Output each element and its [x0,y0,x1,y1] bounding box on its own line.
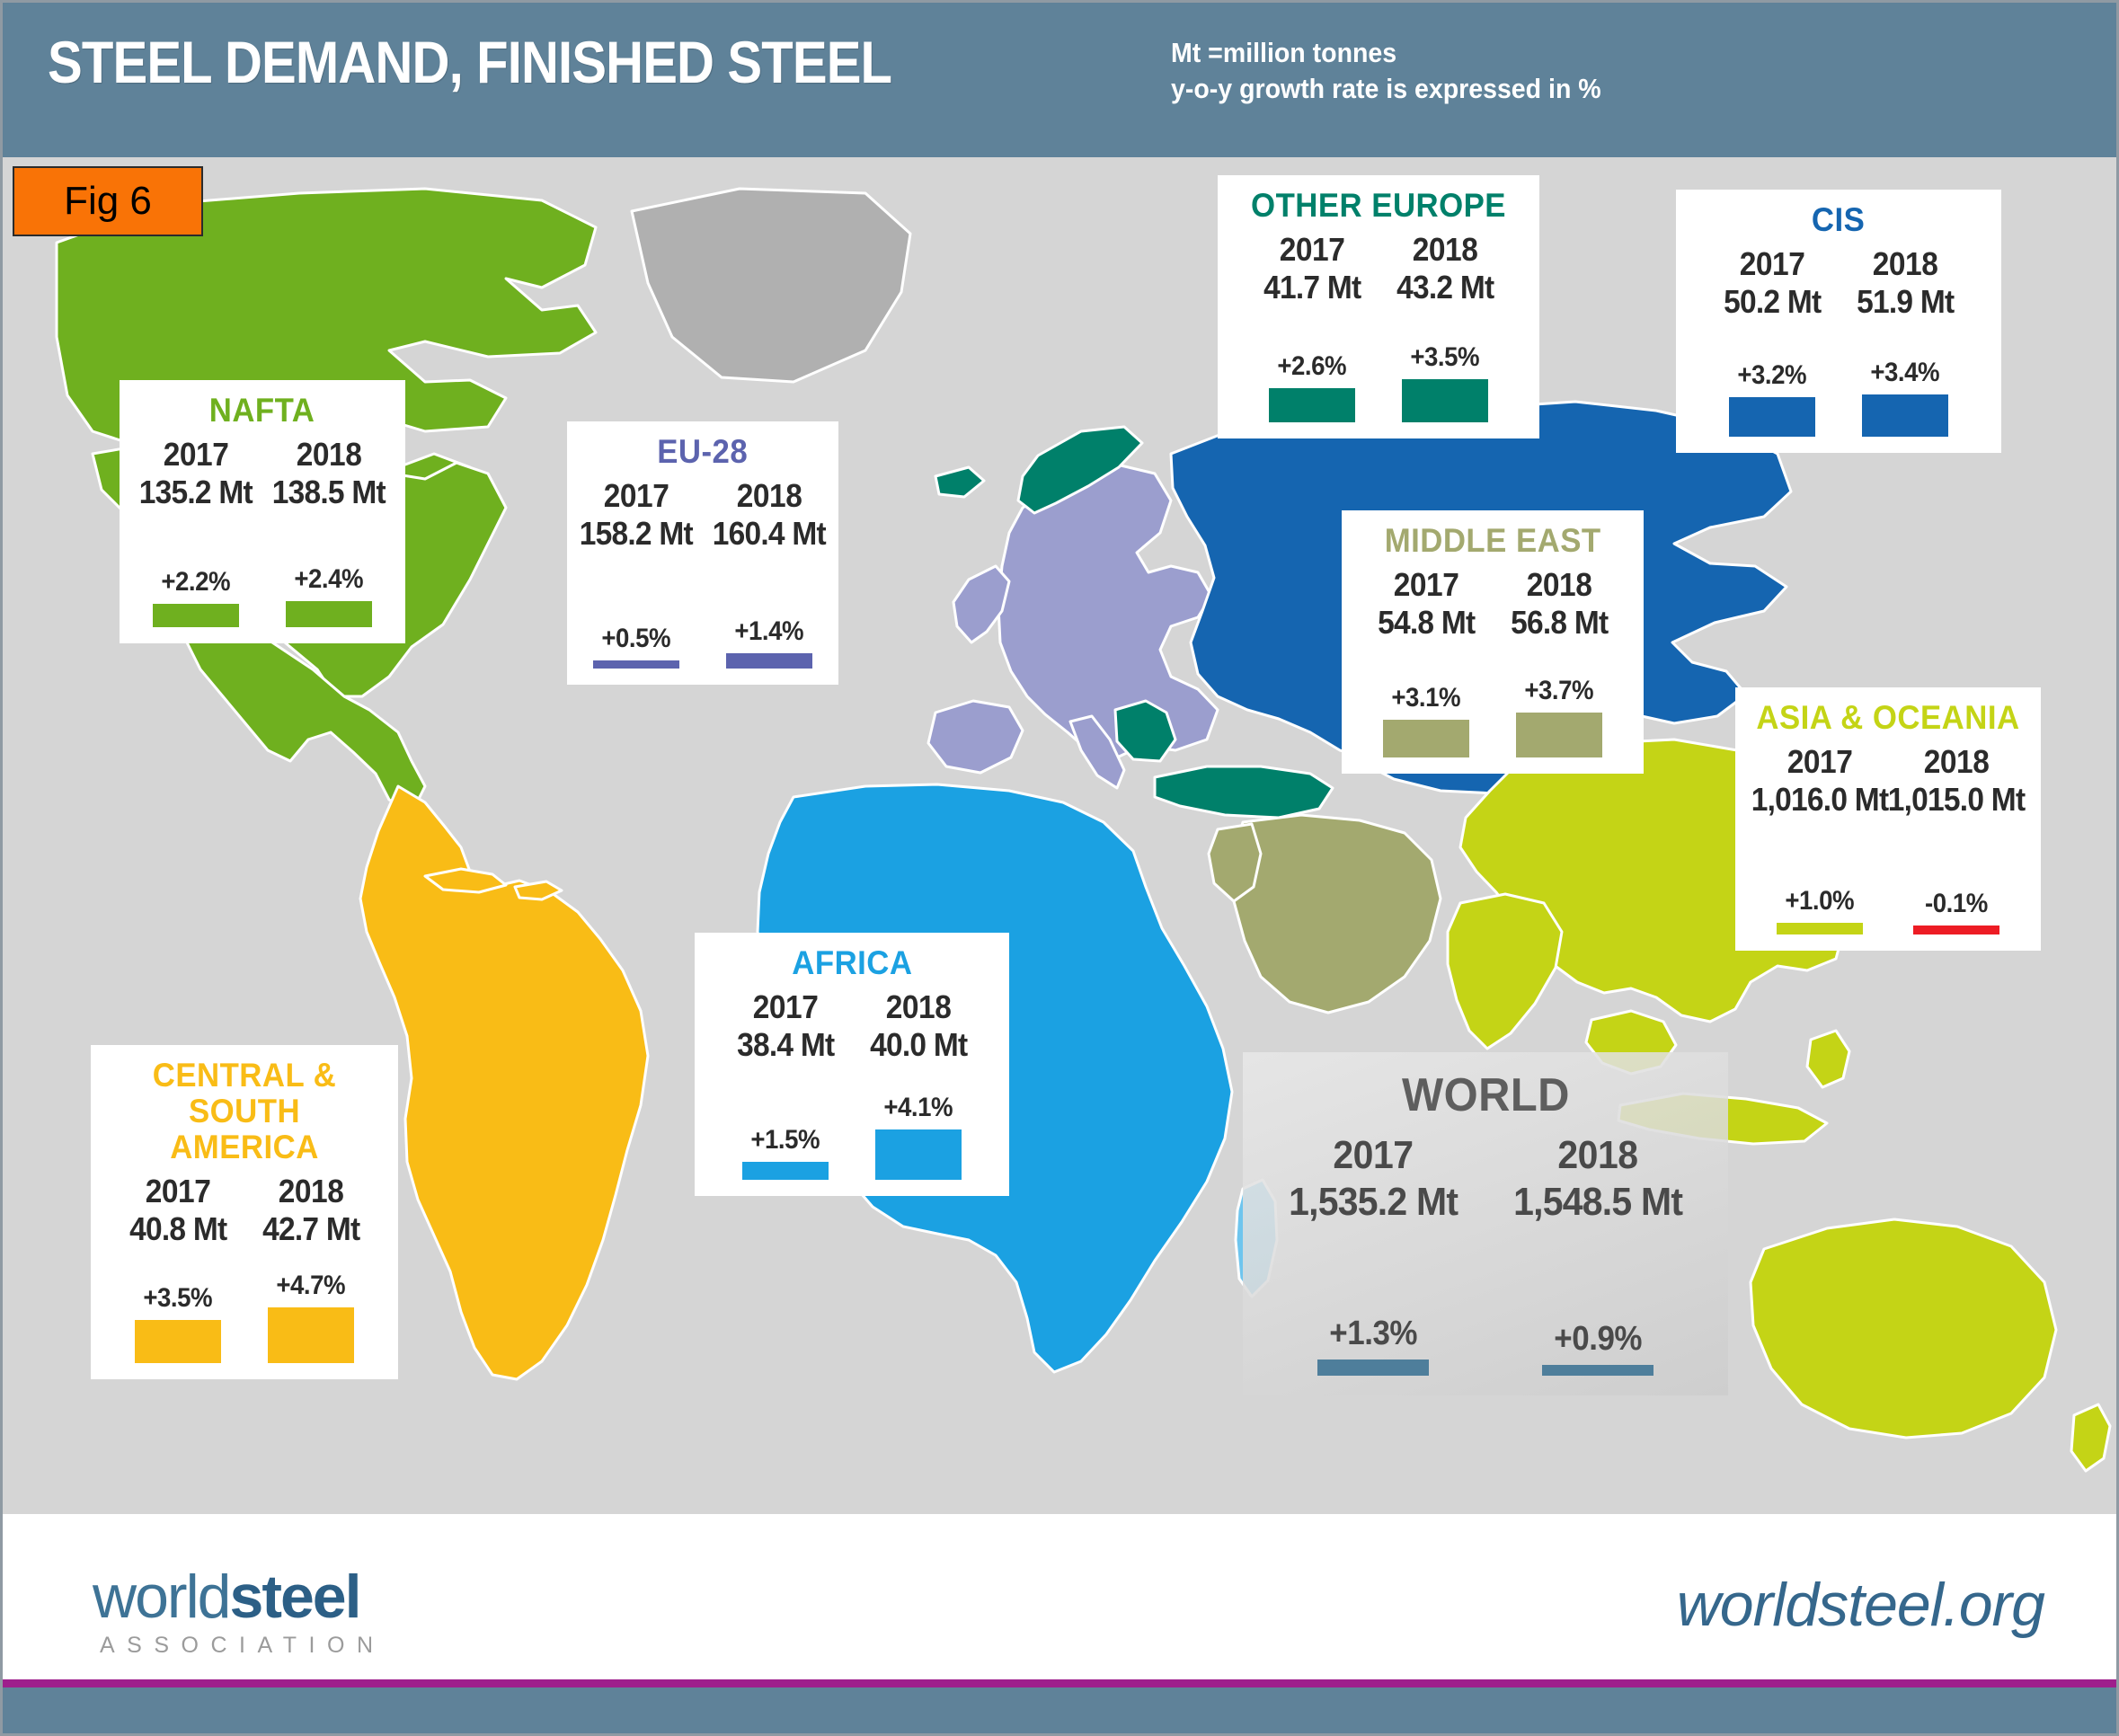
logo-wordmark: worldsteel [93,1566,386,1627]
growth-label: +1.5% [751,1125,820,1156]
value-label: 41.7 Mt [1263,268,1361,306]
growth-label: +2.4% [295,564,364,595]
growth-bar [1383,720,1469,757]
bottom-bar [3,1687,2116,1733]
growth-bar [742,1162,829,1180]
year-label: 2018 [1924,743,1990,780]
region-card-asia-oceania[interactable]: ASIA & OCEANIA 2017 1,016.0 Mt +1.0% 201… [1735,687,2041,951]
growth-label: +0.5% [602,624,671,654]
growth-bar [153,604,239,627]
website-url[interactable]: worldsteel.org [1677,1570,2044,1640]
value-label: 158.2 Mt [580,514,693,553]
growth-label: +1.0% [1786,886,1855,917]
year-label: 2017 [146,1173,211,1209]
growth-label: +3.5% [144,1283,213,1314]
figure-badge: Fig 6 [13,166,203,236]
value-label: 42.7 Mt [262,1209,359,1248]
growth-label: +0.9% [1554,1320,1642,1359]
value-label: 138.5 Mt [272,473,386,511]
unit-legend-line2: y-o-y growth rate is expressed in % [1171,71,1601,107]
unit-legend: Mt =million tonnes y-o-y growth rate is … [1171,35,1601,106]
map-region-iberia [928,701,1023,773]
value-label: 1,535.2 Mt [1289,1179,1458,1227]
card-column-2018: 2018 1,015.0 Mt -0.1% [1888,743,2025,934]
map-region-central-south-america [360,786,648,1379]
card-column-2018: 2018 1,548.5 Mt +0.9% [1485,1133,1710,1375]
card-title-middle-east: MIDDLE EAST [1385,523,1601,559]
card-title-asia-oceania: ASIA & OCEANIA [1756,700,2019,736]
card-column-2018: 2018 56.8 Mt +3.7% [1493,566,1626,757]
card-column-2017: 2017 50.2 Mt +3.2% [1706,245,1839,437]
map-region-australia [1751,1219,2056,1438]
card-title-nafta: NAFTA [209,393,315,429]
year-label: 2018 [1557,1133,1637,1179]
card-title-eu28: EU-28 [658,434,749,470]
value-label: 38.4 Mt [737,1025,834,1064]
growth-bar [1777,923,1863,934]
header-bar: STEEL DEMAND, FINISHED STEEL Mt =million… [3,3,2116,157]
growth-bar [1402,379,1488,422]
growth-label: +2.6% [1278,351,1347,382]
region-card-middle-east[interactable]: MIDDLE EAST 2017 54.8 Mt +3.1% 2018 56.8… [1342,510,1644,774]
card-column-2018: 2018 40.0 Mt +4.1% [852,988,985,1180]
year-label: 2017 [1740,245,1805,282]
map-region-philippines [1807,1031,1849,1087]
card-column-2017: 2017 158.2 Mt +0.5% [570,477,703,669]
card-title-central-south-america: CENTRAL & SOUTH AMERICA [115,1058,374,1165]
card-column-2018: 2018 138.5 Mt +2.4% [262,436,395,627]
growth-label: +3.7% [1525,676,1594,706]
growth-bar [1729,397,1815,437]
growth-bar-negative [1913,926,1999,934]
card-title-cis: CIS [1812,202,1865,238]
growth-label: -0.1% [1925,889,1988,919]
region-card-eu28[interactable]: EU-28 2017 158.2 Mt +0.5% 2018 160.4 Mt … [567,421,838,685]
card-column-2018: 2018 42.7 Mt +4.7% [244,1173,377,1364]
value-label: 1,548.5 Mt [1513,1179,1682,1227]
growth-bar [268,1307,354,1363]
page-title: STEEL DEMAND, FINISHED STEEL [48,28,891,96]
map-region-new-zealand [2071,1404,2110,1471]
value-label: 50.2 Mt [1724,282,1821,321]
value-label: 56.8 Mt [1511,603,1608,642]
region-card-other-europe[interactable]: OTHER EUROPE 2017 41.7 Mt +2.6% 2018 43.… [1218,175,1539,438]
growth-bar [875,1129,962,1180]
growth-label: +3.1% [1392,683,1461,713]
year-label: 2018 [886,988,952,1025]
card-column-2017: 2017 41.7 Mt +2.6% [1246,231,1379,422]
growth-bar [1516,713,1602,757]
region-card-cis[interactable]: CIS 2017 50.2 Mt +3.2% 2018 51.9 Mt +3.4… [1676,190,2001,453]
growth-bar [726,653,812,669]
region-card-central-south-america[interactable]: CENTRAL & SOUTH AMERICA 2017 40.8 Mt +3.… [91,1045,398,1379]
year-label: 2017 [1333,1133,1413,1179]
infographic-page: STEEL DEMAND, FINISHED STEEL Mt =million… [0,0,2119,1736]
card-column-2017: 2017 135.2 Mt +2.2% [129,436,262,627]
logo-world-text: world [93,1563,230,1631]
year-label: 2018 [737,477,802,514]
year-label: 2017 [1787,743,1853,780]
growth-bar [593,660,679,669]
year-label: 2018 [297,436,362,473]
year-label: 2017 [164,436,229,473]
growth-bar [135,1320,221,1363]
growth-bar [1317,1360,1429,1376]
logo-steel-text: steel [230,1563,360,1631]
year-label: 2017 [604,477,669,514]
year-label: 2017 [1394,566,1459,603]
map-region-india [1448,894,1562,1049]
region-card-africa[interactable]: AFRICA 2017 38.4 Mt +1.5% 2018 40.0 Mt +… [695,933,1009,1196]
map-region-middle-east [1232,815,1441,1013]
year-label: 2017 [1280,231,1345,268]
card-column-2018: 2018 43.2 Mt +3.5% [1379,231,1512,422]
card-title-africa: AFRICA [792,945,912,981]
value-label: 135.2 Mt [139,473,253,511]
growth-bar [1269,388,1355,422]
value-label: 40.8 Mt [129,1209,226,1248]
growth-label: +3.2% [1738,360,1807,391]
year-label: 2017 [753,988,819,1025]
growth-bar [1862,394,1948,437]
value-label: 1,016.0 Mt [1751,780,1889,819]
growth-label: +4.1% [884,1093,953,1123]
card-column-2017: 2017 54.8 Mt +3.1% [1360,566,1493,757]
map-region-greenland [632,189,910,382]
growth-label: +3.5% [1411,342,1480,373]
value-label: 43.2 Mt [1396,268,1494,306]
value-label: 160.4 Mt [713,514,826,553]
map-region-other-europe-turkey [1155,766,1333,818]
growth-label: +1.3% [1329,1315,1417,1353]
growth-bar [286,601,372,627]
growth-label: +4.7% [277,1271,346,1301]
map-region-other-europe-iceland [935,467,984,497]
unit-legend-line1: Mt =million tonnes [1171,35,1601,71]
card-column-2017: 2017 40.8 Mt +3.5% [111,1173,244,1364]
growth-label: +3.4% [1871,358,1940,388]
year-label: 2018 [279,1173,344,1209]
value-label: 1,015.0 Mt [1888,780,2026,819]
card-title-other-europe: OTHER EUROPE [1251,188,1506,224]
growth-label: +2.2% [162,567,231,598]
card-column-2018: 2018 160.4 Mt +1.4% [703,477,836,669]
growth-bar [1542,1365,1654,1376]
card-title-world: WORLD [1402,1070,1570,1120]
card-column-2018: 2018 51.9 Mt +3.4% [1839,245,1972,437]
card-column-2017: 2017 38.4 Mt +1.5% [719,988,852,1180]
year-label: 2018 [1873,245,1938,282]
worldsteel-logo: worldsteel ASSOCIATION [93,1566,386,1659]
card-column-2017: 2017 1,535.2 Mt +1.3% [1261,1133,1485,1375]
value-label: 40.0 Mt [870,1025,967,1064]
growth-label: +1.4% [735,616,804,647]
year-label: 2018 [1413,231,1478,268]
year-label: 2018 [1527,566,1592,603]
value-label: 51.9 Mt [1857,282,1954,321]
region-card-world[interactable]: WORLD 2017 1,535.2 Mt +1.3% 2018 1,548.5… [1243,1052,1728,1395]
card-column-2017: 2017 1,016.0 Mt +1.0% [1751,743,1888,934]
region-card-nafta[interactable]: NAFTA 2017 135.2 Mt +2.2% 2018 138.5 Mt … [120,380,405,643]
logo-association-text: ASSOCIATION [100,1633,386,1659]
value-label: 54.8 Mt [1378,603,1475,642]
magenta-divider [3,1679,2116,1687]
